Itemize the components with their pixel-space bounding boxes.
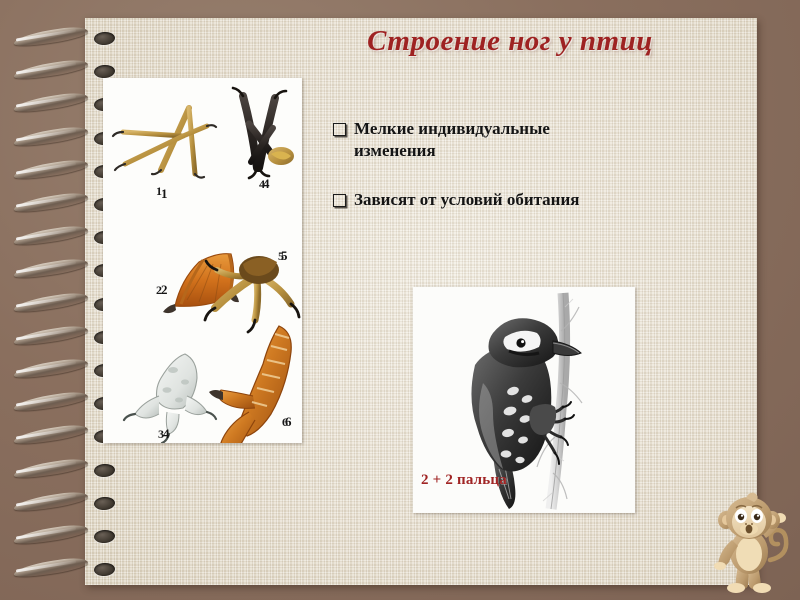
- bullet-item-2: Зависят от условий обитания: [333, 189, 633, 211]
- binding-wire: [14, 57, 88, 82]
- binding-wire: [14, 356, 88, 381]
- binding-hole: [94, 463, 116, 477]
- foot-label-1: 1: [156, 184, 162, 199]
- binding-hole: [94, 529, 116, 543]
- binding-wire: [14, 223, 88, 248]
- binding-wire: [14, 389, 88, 414]
- binding-wire: [14, 456, 88, 481]
- foot-label-4: 4: [259, 177, 265, 192]
- binding-wire: [14, 24, 88, 49]
- spiral-binding-wires: [0, 18, 92, 586]
- monkey-drawing: [706, 488, 792, 596]
- woodpecker-caption: 2 + 2 пальца: [421, 472, 507, 489]
- hollow-square-bullet-icon: [333, 123, 346, 136]
- bullet-item-1: Мелкие индивидуальные изменения: [333, 118, 633, 163]
- binding-wire: [14, 91, 88, 116]
- binding-hole: [94, 562, 116, 576]
- binding-wire: [14, 489, 88, 514]
- binding-wire: [14, 323, 88, 348]
- binding-wire: [14, 257, 88, 282]
- foot-label-6: 6: [282, 415, 288, 430]
- binding-hole: [94, 496, 116, 510]
- binding-wire: [14, 124, 88, 149]
- binding-wire: [14, 522, 88, 547]
- monkey-mascot-icon: [706, 488, 792, 596]
- page-title: Строение ног у птиц: [300, 25, 720, 58]
- foot-label-5: 5: [278, 249, 284, 264]
- bullet-text-2: Зависят от условий обитания: [354, 189, 579, 211]
- hollow-square-bullet-icon: [333, 194, 346, 207]
- woodpecker-panel: 2 + 2 пальца: [413, 287, 635, 513]
- bird-feet-panel: 1 2 4 4 5 6 1 2 3 4 5 6: [103, 78, 302, 443]
- foot-label-3: 3: [158, 427, 164, 442]
- binding-wire: [14, 290, 88, 315]
- foot-label-2: 2: [156, 283, 162, 298]
- binding-wire: [14, 423, 88, 448]
- svg-text:4: 4: [163, 426, 170, 441]
- binding-wire: [14, 190, 88, 215]
- binding-hole: [94, 64, 116, 78]
- binding-wire: [14, 555, 88, 580]
- slide-canvas: Строение ног у птиц: [0, 0, 800, 600]
- bullet-text-1: Мелкие индивидуальные изменения: [354, 118, 633, 163]
- binding-wire: [14, 157, 88, 182]
- bird-feet-drawing: 1 2 4 4 5 6: [103, 78, 302, 443]
- binding-hole: [94, 31, 116, 45]
- bullet-list: Мелкие индивидуальные изменения Зависят …: [333, 118, 633, 237]
